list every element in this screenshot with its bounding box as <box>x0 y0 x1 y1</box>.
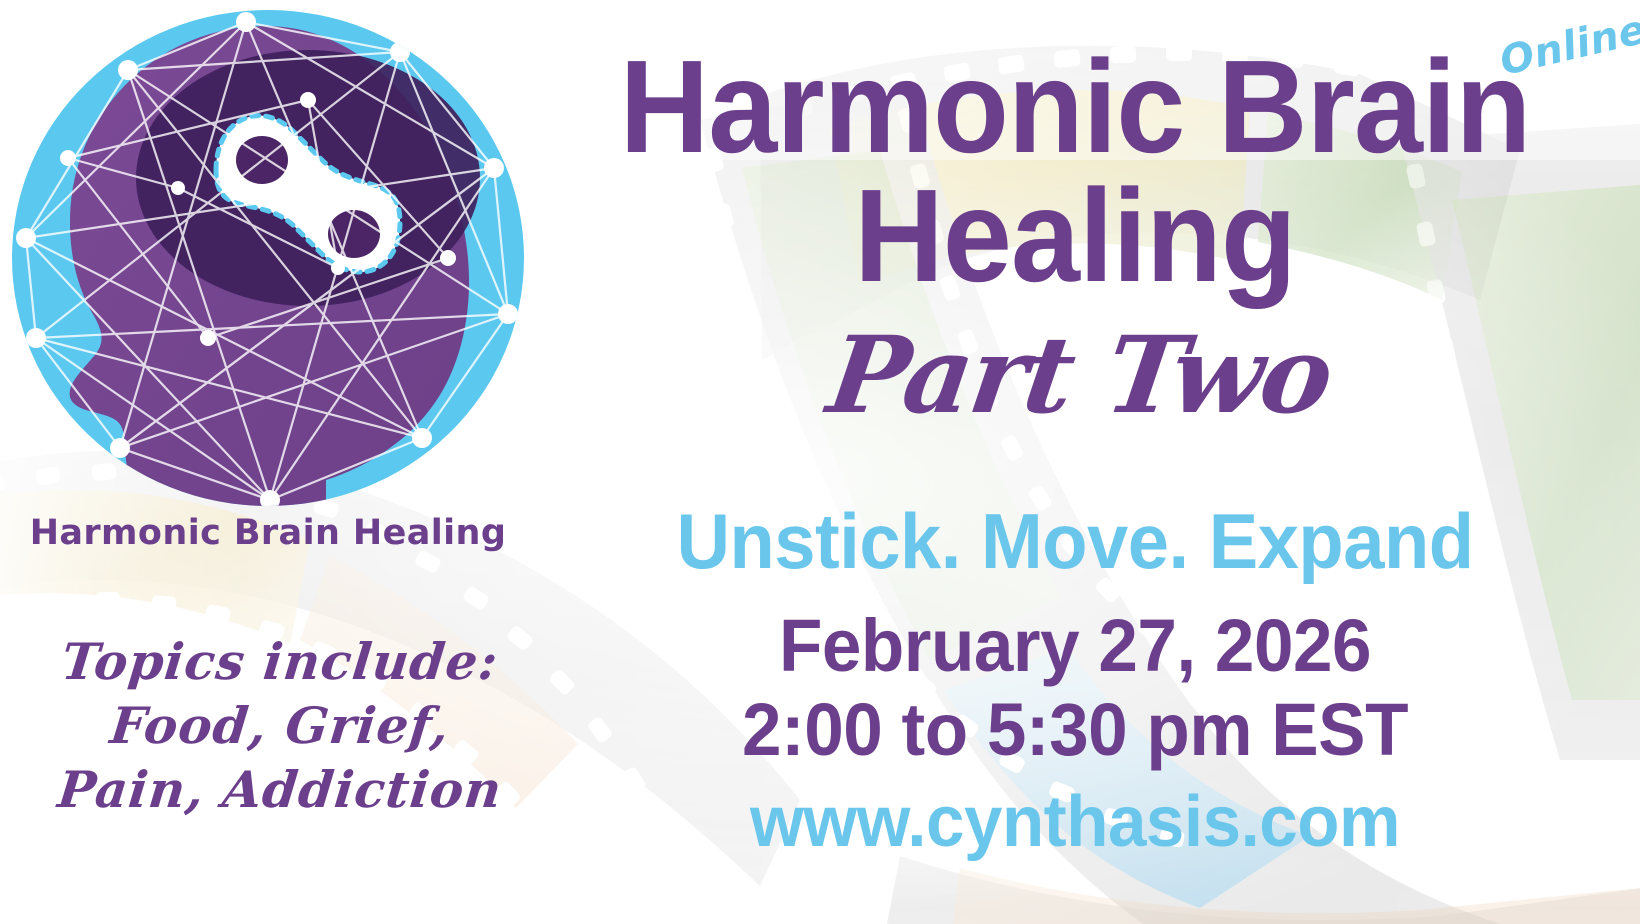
logo-block: Harmonic Brain Healing <box>8 8 528 588</box>
topics-line-2: Pain, Addiction <box>27 758 534 822</box>
event-datetime-block: February 27, 2026 2:00 to 5:30 pm EST <box>520 604 1630 773</box>
topics-block: Topics include: Food, Grief, Pain, Addic… <box>30 630 530 822</box>
topics-heading: Topics include: <box>27 630 534 694</box>
tagline: Unstick. Move. Expand <box>548 502 1603 580</box>
headline-line-2: Healing <box>553 173 1596 298</box>
website-url[interactable]: www.cynthasis.com <box>542 786 1608 858</box>
topics-line-1: Food, Grief, <box>27 694 534 758</box>
harmonic-brain-healing-logo-icon <box>8 8 528 508</box>
event-poster: Online <box>0 0 1640 924</box>
part-label: Part Two <box>753 322 1408 428</box>
event-date: February 27, 2026 <box>542 604 1608 688</box>
headline-line-1: Harmonic Brain <box>553 44 1596 169</box>
event-time: 2:00 to 5:30 pm EST <box>542 688 1608 772</box>
headline-block: Harmonic Brain Healing <box>520 44 1630 299</box>
logo-caption: Harmonic Brain Healing <box>8 513 528 553</box>
